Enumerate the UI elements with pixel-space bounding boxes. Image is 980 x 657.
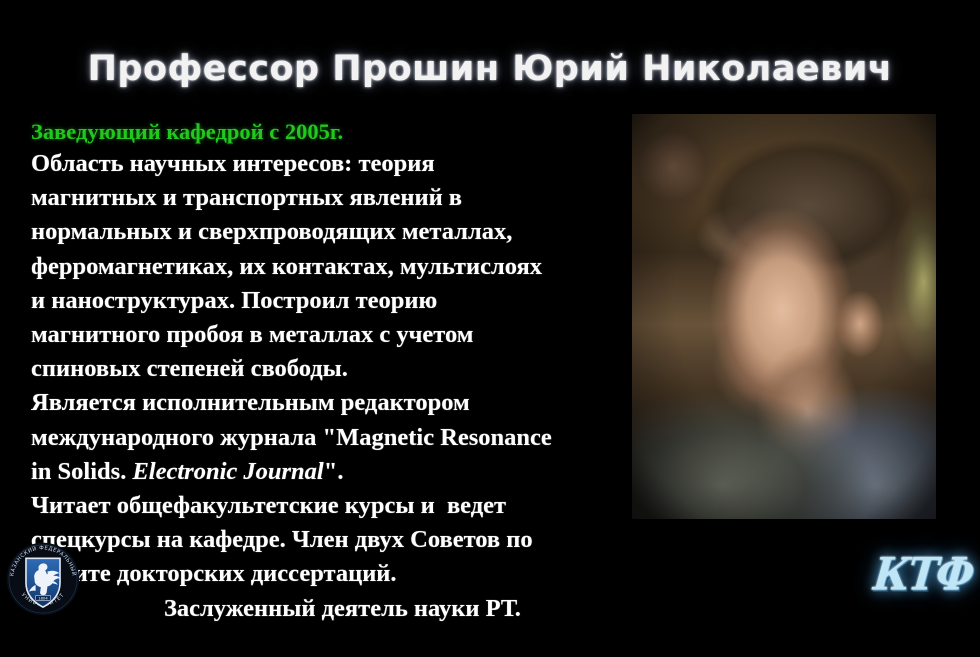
ktf-department-logo: КТФ <box>874 546 972 602</box>
journal-prefix: in Solids. <box>31 458 132 485</box>
journal-line-1: международного журнала "Magnetic Resonan… <box>31 421 611 455</box>
bio-line: Область научных интересов: теория <box>31 147 611 181</box>
portrait-photo <box>632 114 936 519</box>
journal-line-2: in Solids. Electronic Journal". <box>31 455 611 489</box>
bio-line: и наноструктурах. Построил теорию <box>31 284 611 318</box>
ktf-logo-text: КТФ <box>871 548 975 601</box>
kfu-emblem-logo: КАЗАНСКИЙ ФЕДЕРАЛЬНЫЙ УНИВЕРСИТЕТ 1804 <box>6 542 80 616</box>
bio-line: Является исполнительным редактором <box>31 386 611 420</box>
honor-line: Заслуженный деятель науки РТ. <box>31 592 611 626</box>
bio-line: защите докторских диссертаций. <box>31 557 611 591</box>
bio-line: магнитного пробоя в металлах с учетом <box>31 318 611 352</box>
bio-line: Читает общефакультетские курсы и ведет <box>31 489 611 523</box>
bio-line: ферромагнетиках, их контактах, мультисло… <box>31 250 611 284</box>
page-title: Профессор Прошин Юрий Николаевич <box>0 49 980 89</box>
bio-line: спиновых степеней свободы. <box>31 352 611 386</box>
journal-suffix: ". <box>324 458 344 485</box>
presentation-slide: Профессор Прошин Юрий Николаевич Заведую… <box>0 0 980 657</box>
svg-text:1804: 1804 <box>38 596 48 600</box>
biography-text-block: Заведующий кафедрой с 2005г. Область нау… <box>31 116 611 626</box>
portrait-photo-image <box>632 114 936 519</box>
bio-line: нормальных и сверхпроводящих металлах, <box>31 215 611 249</box>
heading-chair-since: Заведующий кафедрой с 2005г. <box>31 116 611 147</box>
journal-title-italic: Electronic Journal <box>132 458 323 485</box>
bio-line: спецкурсы на кафедре. Член двух Советов … <box>31 523 611 557</box>
bio-line: магнитных и транспортных явлений в <box>31 181 611 215</box>
